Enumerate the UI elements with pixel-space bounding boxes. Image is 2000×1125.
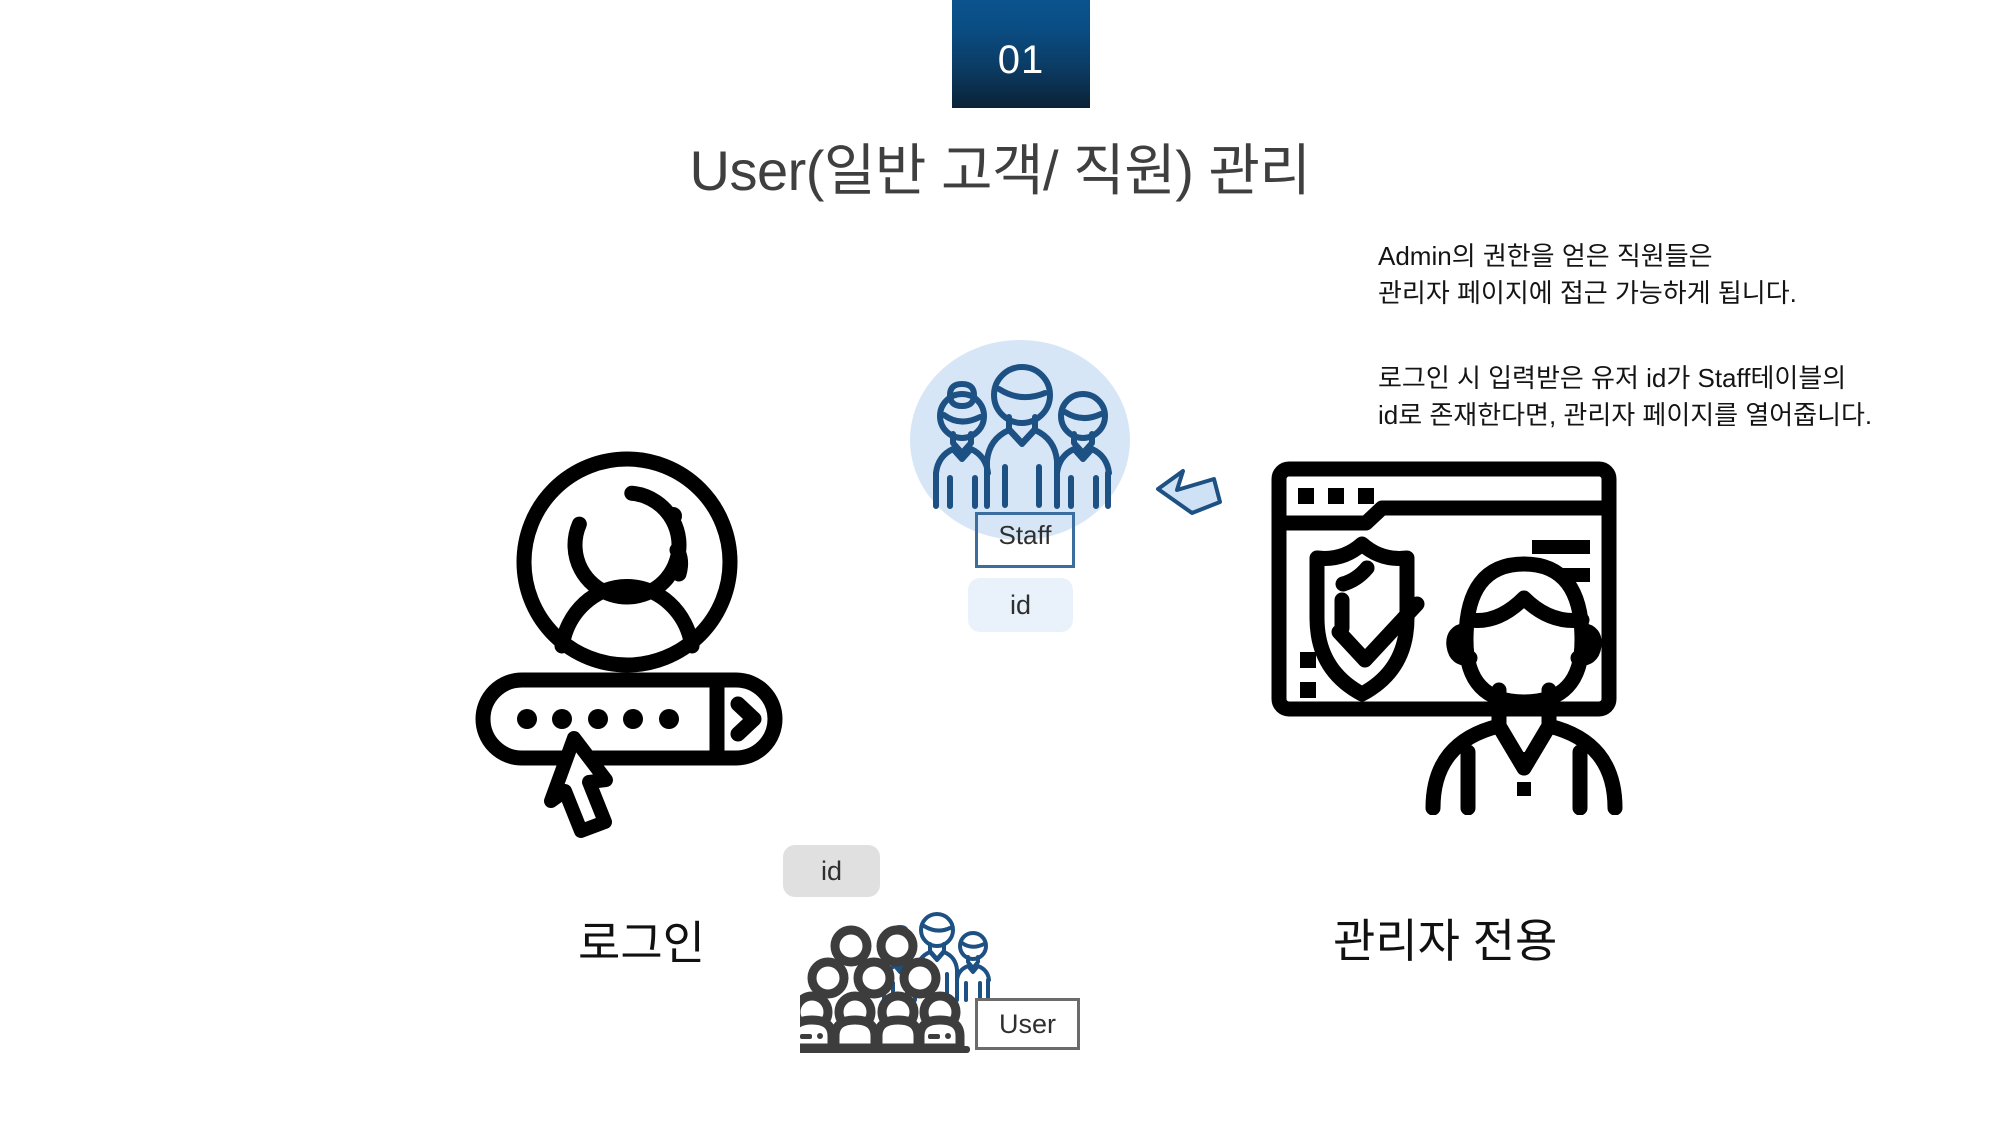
slide-number-badge: 01 [952, 0, 1090, 108]
admin-panel-icon [1270, 460, 1625, 815]
staff-table-box: Staff [975, 512, 1075, 568]
staff-people-icon [925, 355, 1120, 510]
note-paragraph-1: Admin의 권한을 얻은 직원들은 관리자 페이지에 접근 가능하게 됩니다. [1378, 238, 1998, 312]
note-paragraph-2: 로그인 시 입력받은 유저 id가 Staff테이블의 id로 존재한다면, 관… [1378, 360, 1998, 434]
page-title: User(일반 고객/ 직원) 관리 [0, 140, 2000, 202]
staff-table-label: Staff [998, 515, 1051, 548]
flow-arrow-icon [1152, 462, 1232, 522]
user-table-label: User [999, 1011, 1056, 1038]
user-table-box: User [975, 998, 1080, 1050]
slide-number-text: 01 [998, 22, 1045, 80]
slide-canvas: 01 User(일반 고객/ 직원) 관리 Admin의 권한을 얻은 직원들은… [0, 0, 2000, 1125]
login-caption: 로그인 [578, 920, 705, 966]
user-id-label: id [821, 858, 842, 885]
user-id-badge: id [783, 845, 880, 897]
notes-block: Admin의 권한을 얻은 직원들은 관리자 페이지에 접근 가능하게 됩니다.… [1378, 238, 1998, 434]
staff-id-badge: id [968, 578, 1073, 632]
admin-caption: 관리자 전용 [1333, 918, 1557, 964]
staff-id-label: id [1010, 592, 1031, 619]
login-icon [470, 450, 820, 850]
